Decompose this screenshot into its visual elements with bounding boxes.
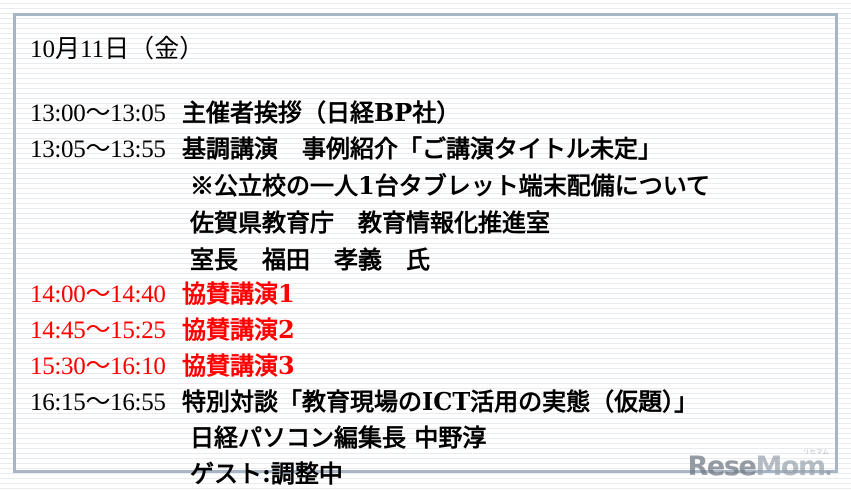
session-title: 協賛講演2 bbox=[182, 318, 295, 342]
schedule-row-continuation: 室長 福田 孝義 氏 bbox=[30, 248, 430, 272]
session-speaker-name: 室長 福田 孝義 氏 bbox=[190, 248, 430, 272]
watermark-brand-prefix: Rese bbox=[688, 451, 756, 482]
schedule-list: 10月11日（金） 13:00〜13:05主催者挨拶（日経BP社） 13:05〜… bbox=[16, 16, 835, 470]
session-moderator: 日経パソコン編集長 中野淳 bbox=[190, 426, 486, 450]
session-speaker-org: 佐賀県教育庁 教育情報化推進室 bbox=[190, 211, 550, 235]
session-time: 13:05〜13:55 bbox=[30, 137, 182, 162]
event-date-label: 10月11日（金） bbox=[30, 37, 204, 62]
session-time: 14:00〜14:40 bbox=[30, 282, 182, 307]
slide-frame: 10月11日（金） 13:00〜13:05主催者挨拶（日経BP社） 13:05〜… bbox=[13, 13, 838, 473]
schedule-row-sponsor: 14:00〜14:40協賛講演1 bbox=[30, 282, 295, 307]
resemom-watermark: リセマム ReseMom. bbox=[709, 450, 837, 484]
watermark-brand: ReseMom. bbox=[688, 453, 831, 480]
session-title: 協賛講演1 bbox=[182, 282, 295, 306]
schedule-row-continuation: 日経パソコン編集長 中野淳 bbox=[30, 426, 486, 450]
schedule-row-continuation: 佐賀県教育庁 教育情報化推進室 bbox=[30, 211, 550, 235]
session-time: 13:00〜13:05 bbox=[30, 101, 182, 126]
schedule-header-row: 10月11日（金） bbox=[30, 37, 204, 62]
session-title: 特別対談「教育現場のICT活用の実態（仮題）」 bbox=[182, 390, 698, 414]
schedule-row-sponsor: 14:45〜15:25協賛講演2 bbox=[30, 318, 295, 343]
session-time: 15:30〜16:10 bbox=[30, 354, 182, 379]
slide-canvas: 10月11日（金） 13:00〜13:05主催者挨拶（日経BP社） 13:05〜… bbox=[0, 0, 851, 490]
session-time: 14:45〜15:25 bbox=[30, 318, 182, 343]
session-time: 16:15〜16:55 bbox=[30, 390, 182, 415]
watermark-brand-suffix: Mom bbox=[755, 451, 824, 482]
schedule-row-continuation: ゲスト:調整中 bbox=[30, 462, 343, 486]
schedule-row-continuation: ※公立校の一人1台タブレット端末配備について bbox=[30, 174, 710, 198]
schedule-row: 13:05〜13:55基調講演 事例紹介「ご講演タイトル未定」 bbox=[30, 137, 662, 162]
schedule-row: 13:00〜13:05主催者挨拶（日経BP社） bbox=[30, 101, 460, 126]
session-guest: ゲスト:調整中 bbox=[190, 462, 343, 486]
session-detail: ※公立校の一人1台タブレット端末配備について bbox=[190, 174, 710, 198]
schedule-row: 16:15〜16:55特別対談「教育現場のICT活用の実態（仮題）」 bbox=[30, 390, 698, 415]
watermark-brand-dot: . bbox=[825, 456, 831, 480]
session-title: 協賛講演3 bbox=[182, 354, 295, 378]
session-title: 基調講演 事例紹介「ご講演タイトル未定」 bbox=[182, 137, 662, 161]
schedule-row-sponsor: 15:30〜16:10協賛講演3 bbox=[30, 354, 295, 379]
session-title: 主催者挨拶（日経BP社） bbox=[182, 101, 460, 125]
